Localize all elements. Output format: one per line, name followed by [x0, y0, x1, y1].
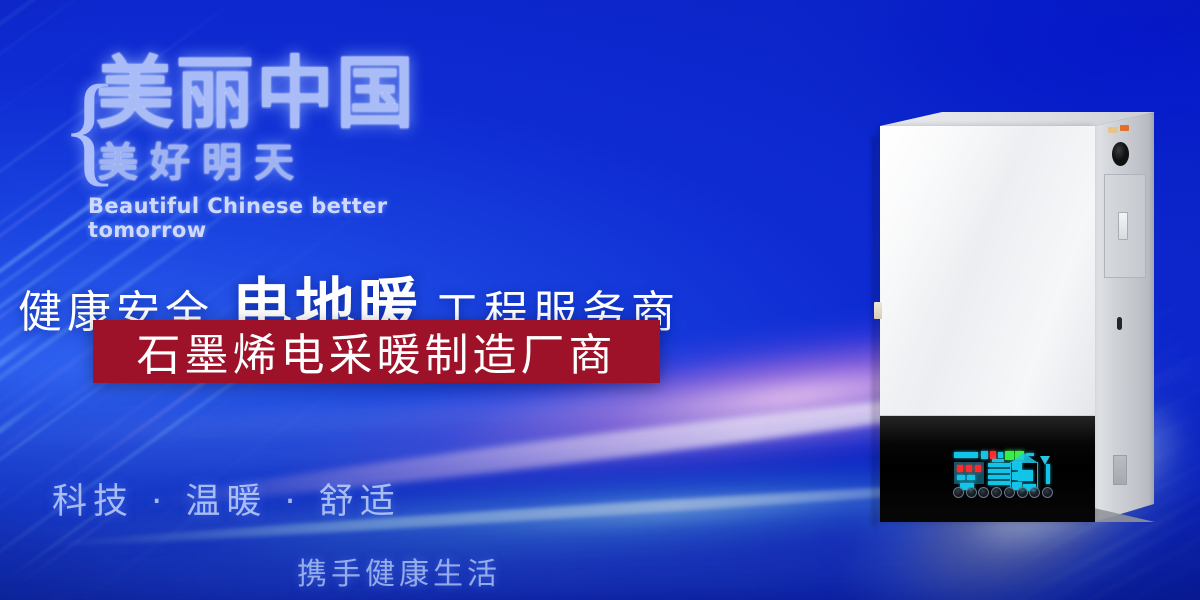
- touch-button-row[interactable]: [953, 487, 1053, 498]
- red-banner-text: 石墨烯电采暖制造厂商: [137, 319, 617, 383]
- touch-button-power[interactable]: [953, 487, 964, 498]
- touch-button-timer[interactable]: [1017, 487, 1028, 498]
- lcd-display: [952, 450, 1052, 496]
- touch-button-clock[interactable]: [1029, 487, 1040, 498]
- lcd-left-sub-2: [967, 475, 975, 480]
- lcd-row-3: [988, 475, 1010, 479]
- lcd-row-header: [992, 459, 1004, 462]
- product-flue-port: [1112, 142, 1129, 166]
- product-top-connector-b: [1120, 125, 1129, 131]
- product-front-face: [880, 126, 1095, 522]
- tagline-secondary: 携手健康生活: [297, 549, 501, 593]
- touch-button-down[interactable]: [991, 487, 1002, 498]
- product-top-connector-a: [1108, 127, 1118, 133]
- touch-button-up[interactable]: [978, 487, 989, 498]
- lcd-side-bar: [1046, 464, 1050, 484]
- lcd-label-mode: [954, 452, 978, 458]
- product-left-tab: [874, 302, 882, 319]
- product-image-electric-boiler: [868, 112, 1168, 532]
- lcd-lamp-2: [966, 465, 972, 472]
- lcd-icon-alert: [990, 451, 996, 459]
- product-side-switch: [1118, 212, 1128, 240]
- touch-button-set[interactable]: [1004, 487, 1015, 498]
- logo-main-text: 美丽中国: [96, 55, 416, 133]
- lcd-icon-b: [998, 452, 1003, 458]
- lcd-row-2: [988, 469, 1010, 473]
- product-side-vent: [1113, 455, 1127, 485]
- product-panel-gloss: [880, 416, 1095, 444]
- logo-english-text: Beautiful Chinese better tomorrow: [88, 194, 480, 242]
- banner-canvas: { 美丽中国 美好明天 Beautiful Chinese better tom…: [0, 0, 1200, 600]
- lcd-row-1: [988, 463, 1010, 467]
- lcd-lamp-1: [957, 465, 963, 472]
- lcd-house-temperature: [1018, 470, 1033, 481]
- logo-sub-text: 美好明天: [98, 143, 306, 183]
- red-banner: 石墨烯电采暖制造厂商: [93, 320, 660, 383]
- lcd-left-sub-1: [957, 475, 965, 480]
- product-drop-shadow: [872, 136, 878, 526]
- lcd-icon-a: [981, 451, 988, 459]
- product-front-upper: [880, 126, 1095, 416]
- lcd-lamp-3: [975, 465, 981, 472]
- touch-button-mode[interactable]: [966, 487, 977, 498]
- lcd-row-4: [988, 481, 1010, 485]
- product-side-slot: [1117, 317, 1122, 330]
- touch-button-lock[interactable]: [1042, 487, 1053, 498]
- brand-logo: { 美丽中国 美好明天 Beautiful Chinese better tom…: [60, 55, 480, 225]
- tagline-primary: 科技 · 温暖 · 舒适: [52, 473, 401, 524]
